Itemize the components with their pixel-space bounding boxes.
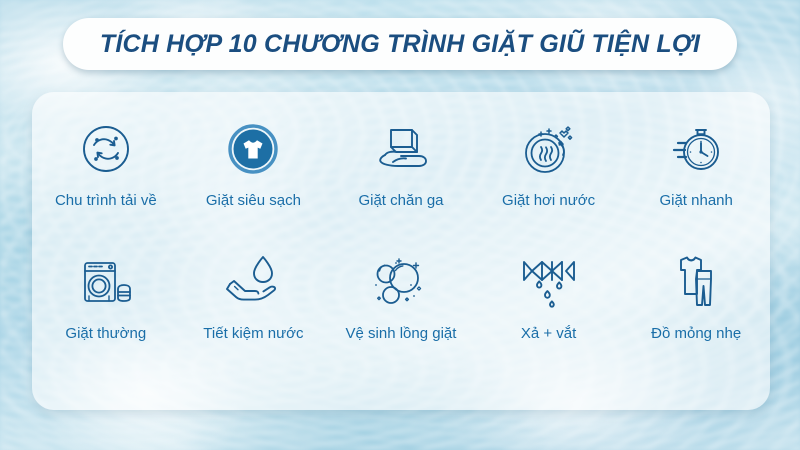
- program-label: Chu trình tải về: [55, 192, 157, 209]
- program-item-giat-nhanh[interactable]: Giặt nhanh: [626, 118, 766, 209]
- program-item-chu-trinh-tai-ve[interactable]: Chu trình tải về: [36, 118, 176, 209]
- program-item-giat-chan-ga[interactable]: Giặt chăn ga: [331, 118, 471, 209]
- program-label: Giặt nhanh: [659, 192, 732, 209]
- tshirt-circle-icon: [225, 118, 281, 180]
- blanket-pillow-icon: [371, 118, 431, 180]
- program-label: Đồ mỏng nhẹ: [651, 325, 741, 342]
- hand-water-drop-icon: [222, 251, 284, 313]
- program-label: Giặt hơi nước: [502, 192, 595, 209]
- program-item-ve-sinh-long-giat[interactable]: Vệ sinh lồng giặt: [331, 251, 471, 342]
- program-item-giat-sieu-sach[interactable]: Giặt siêu sạch: [183, 118, 323, 209]
- program-label: Vệ sinh lồng giặt: [346, 325, 457, 342]
- shirt-pants-icon: [667, 251, 725, 313]
- programs-row-1: Chu trình tải về Giặt siêu sạch: [32, 118, 770, 209]
- washing-machine-icon: [77, 251, 135, 313]
- program-label: Giặt thường: [65, 325, 146, 342]
- steam-drum-icon: [518, 118, 580, 180]
- title-banner: TÍCH HỢP 10 CHƯƠNG TRÌNH GIẶT GIŨ TIỆN L…: [63, 18, 737, 70]
- program-item-xa-vat[interactable]: Xả + vắt: [479, 251, 619, 342]
- program-label: Tiết kiệm nước: [203, 325, 303, 342]
- program-item-giat-hoi-nuoc[interactable]: Giặt hơi nước: [479, 118, 619, 209]
- program-label: Xả + vắt: [521, 325, 576, 342]
- bubbles-icon: [370, 251, 432, 313]
- page-title: TÍCH HỢP 10 CHƯƠNG TRÌNH GIẶT GIŨ TIỆN L…: [100, 30, 700, 59]
- program-label: Giặt siêu sạch: [206, 192, 301, 209]
- program-item-tiet-kiem-nuoc[interactable]: Tiết kiệm nước: [183, 251, 323, 342]
- programs-row-2: Giặt thường Tiết kiệm nước: [32, 251, 770, 342]
- program-label: Giặt chăn ga: [358, 192, 443, 209]
- programs-panel: Chu trình tải về Giặt siêu sạch: [32, 92, 770, 410]
- recycle-cycle-icon: [78, 118, 134, 180]
- program-item-giat-thuong[interactable]: Giặt thường: [36, 251, 176, 342]
- programs-grid: Chu trình tải về Giặt siêu sạch: [32, 92, 770, 410]
- program-item-do-mong-nhe[interactable]: Đồ mỏng nhẹ: [626, 251, 766, 342]
- wrung-towel-drops-icon: [518, 251, 580, 313]
- screenshot-root: TÍCH HỢP 10 CHƯƠNG TRÌNH GIẶT GIŨ TIỆN L…: [0, 0, 800, 450]
- stopwatch-speed-icon: [665, 118, 727, 180]
